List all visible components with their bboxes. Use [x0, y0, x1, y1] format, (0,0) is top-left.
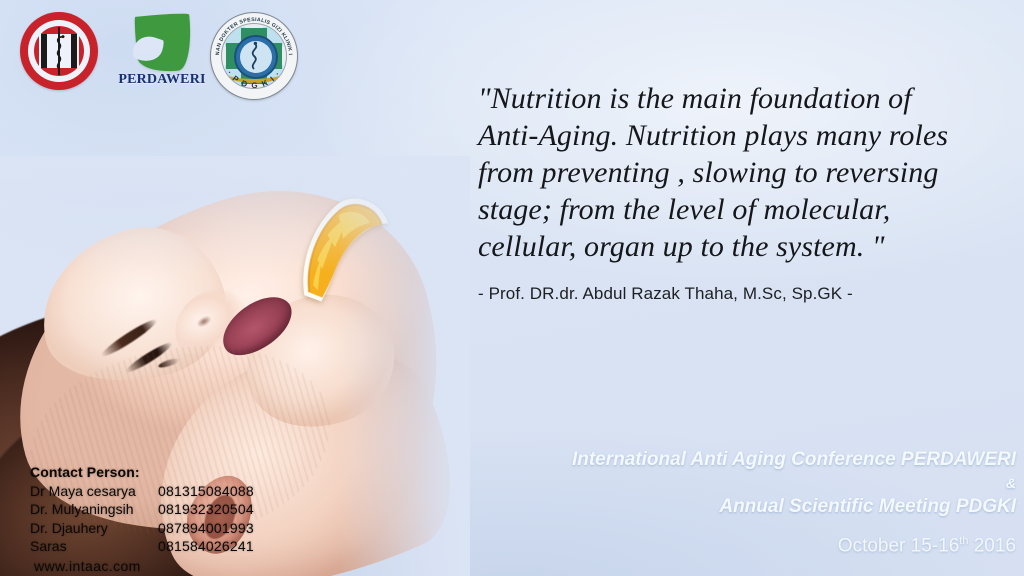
idi-logo — [20, 12, 98, 90]
pdgki-ring-text: PERHIMPUNAN DOKTER SPESIALIS GIZI KLINIK… — [210, 12, 298, 100]
quote-line-4: stage; from the level of molecular, — [478, 191, 978, 228]
contact-row: Dr. Djauhery 087894001993 — [30, 519, 300, 538]
perdaweri-logo: PERDAWERI — [114, 10, 210, 102]
contact-name: Dr Maya cesarya — [30, 482, 158, 501]
logo-bar: PERDAWERI — [14, 10, 304, 102]
quote-text: "Nutrition is the main foundation of Ant… — [478, 80, 978, 265]
conference-date: October 15-16th 2016 — [376, 528, 1016, 559]
contact-name: Dr. Mulyaningsih — [30, 500, 158, 519]
pdgki-ring-text-top: PERHIMPUNAN DOKTER SPESIALIS GIZI KLINIK… — [210, 12, 293, 56]
contact-phone: 081315084088 — [158, 482, 254, 501]
quote-line-5: cellular, organ up to the system. " — [478, 228, 978, 265]
idi-plate — [39, 34, 79, 68]
contact-name: Dr. Djauhery — [30, 519, 158, 538]
idi-left-bar — [41, 34, 47, 68]
conference-title-line-2: Annual Scientific Meeting PDGKI — [376, 493, 1016, 520]
contact-phone: 081932320504 — [158, 500, 254, 519]
contact-block: Contact Person: Dr Maya cesarya 08131508… — [30, 463, 300, 575]
website-link[interactable]: www.intaac.com — [30, 557, 300, 576]
contact-phone: 081584026241 — [158, 537, 254, 556]
contact-row: Dr. Mulyaningsih 081932320504 — [30, 500, 300, 519]
quote-attribution: - Prof. DR.dr. Abdul Razak Thaha, M.Sc, … — [478, 284, 978, 304]
contact-heading: Contact Person: — [30, 463, 300, 482]
contact-name: Saras — [30, 537, 158, 556]
idi-right-bar — [71, 34, 77, 68]
quote-line-1: "Nutrition is the main foundation of — [478, 80, 978, 117]
conference-title-line-1: International Anti Aging Conference PERD… — [376, 446, 1016, 473]
conference-date-year: 2016 — [968, 535, 1016, 556]
contact-row: Saras 081584026241 — [30, 537, 300, 556]
quote-line-3: from preventing , slowing to reversing — [478, 154, 978, 191]
pdgki-ring-text-bottom: · P D G K I · — [225, 69, 283, 90]
idi-serpent-icon — [52, 27, 66, 75]
perdaweri-wordmark: PERDAWERI — [114, 72, 210, 88]
contact-row: Dr Maya cesarya 081315084088 — [30, 482, 300, 501]
conference-date-prefix: October 15-16 — [838, 535, 959, 556]
contact-phone: 087894001993 — [158, 519, 254, 538]
poster-canvas: PERDAWERI — [0, 0, 1024, 576]
quote-line-2: Anti-Aging. Nutrition plays many roles — [478, 117, 978, 154]
idi-rod-of-asclepius-icon — [52, 27, 66, 75]
pdgki-logo: PERHIMPUNAN DOKTER SPESIALIS GIZI KLINIK… — [210, 12, 298, 100]
conference-titles: International Anti Aging Conference PERD… — [376, 446, 1016, 559]
conference-ampersand: & — [376, 473, 1016, 493]
